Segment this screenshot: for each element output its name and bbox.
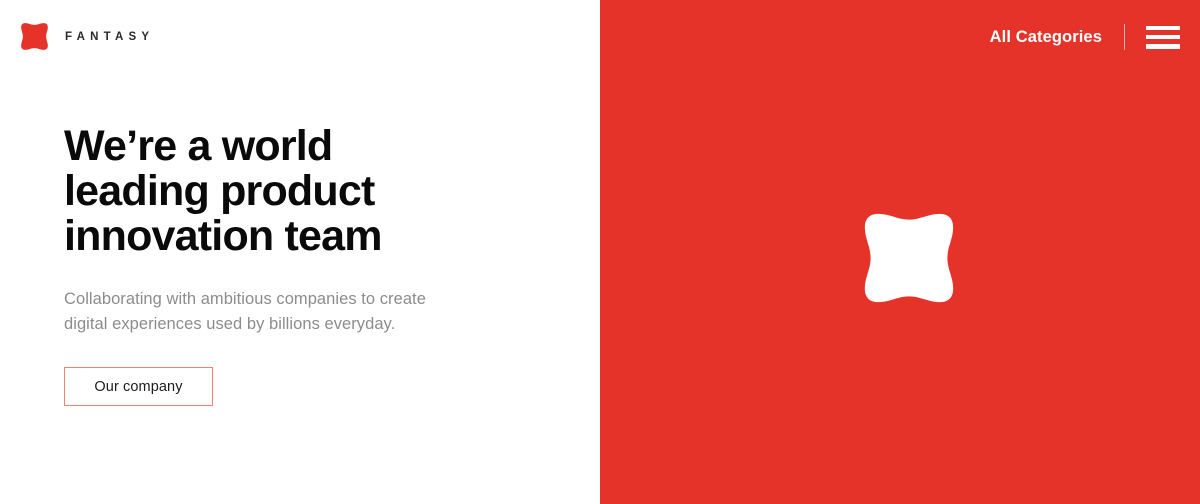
- nav-divider: [1124, 24, 1125, 50]
- hero-page: FANTASY All Categories We’re a world lea…: [0, 0, 1200, 504]
- hamburger-bar-3: [1146, 44, 1180, 49]
- nav-link-all-categories[interactable]: All Categories: [990, 28, 1102, 47]
- brand-wordmark: FANTASY: [65, 31, 154, 43]
- hamburger-bar-2: [1146, 35, 1180, 40]
- fantasy-logo-icon: [20, 22, 49, 51]
- header-nav: All Categories: [990, 22, 1180, 52]
- hamburger-bar-1: [1146, 26, 1180, 31]
- fantasy-mark-large-icon: [861, 210, 957, 306]
- brand-logo[interactable]: FANTASY: [20, 22, 154, 51]
- hamburger-menu-icon[interactable]: [1146, 26, 1180, 49]
- our-company-button[interactable]: Our company: [64, 367, 213, 406]
- hero-subtitle: Collaborating with ambitious companies t…: [64, 287, 454, 337]
- page-title: We’re a world leading product innovation…: [64, 124, 534, 259]
- hero-content: We’re a world leading product innovation…: [64, 124, 534, 406]
